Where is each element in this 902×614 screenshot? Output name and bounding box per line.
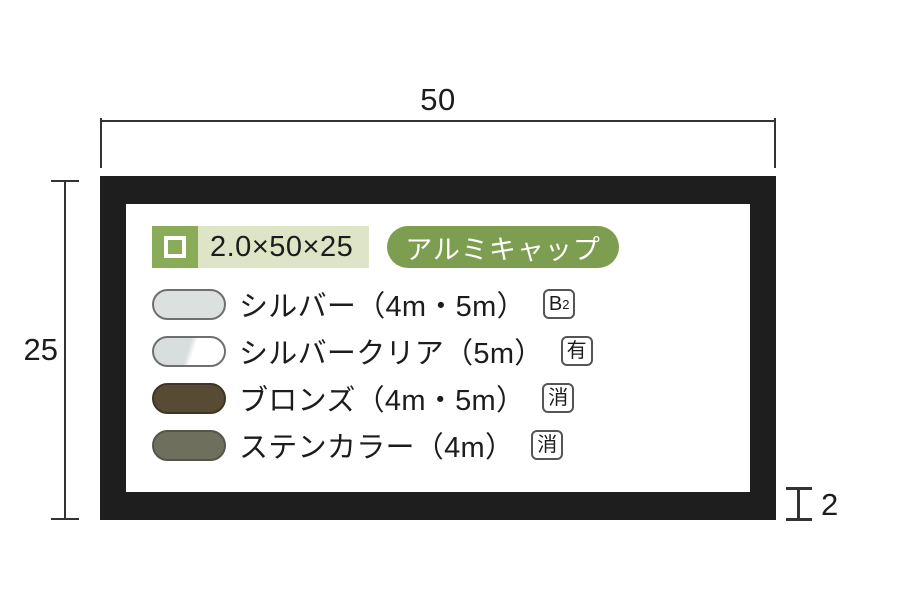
square-glyph bbox=[164, 236, 186, 258]
dimension-tick-left bbox=[100, 118, 102, 168]
ibeam-cap-bottom bbox=[786, 518, 812, 521]
list-item: シルバークリア（5m） 有 bbox=[152, 329, 724, 373]
spec-text: 2.0×50×25 bbox=[198, 226, 369, 268]
dimension-line bbox=[100, 120, 776, 122]
dimension-tick-bottom bbox=[51, 518, 79, 520]
list-item: ステンカラー（4m） 消 bbox=[152, 423, 724, 467]
color-swatch bbox=[152, 289, 226, 320]
color-name: シルバー（4m・5m） bbox=[239, 283, 526, 325]
product-frame-inner: 2.0×50×25 アルミキャップ シルバー（4m・5m） B2 シルバークリア… bbox=[126, 204, 750, 492]
color-swatch bbox=[152, 336, 226, 367]
dimension-height-line bbox=[64, 180, 66, 520]
dimension-line bbox=[64, 180, 66, 520]
diagram-canvas: 50 25 2 2.0×50×25 bbox=[0, 0, 902, 614]
dimension-tick-right bbox=[774, 118, 776, 168]
color-name: ブロンズ（4m・5m） bbox=[239, 377, 525, 419]
ibeam-stem bbox=[797, 487, 800, 521]
dimension-width-line bbox=[100, 120, 776, 122]
status-badge: 消 bbox=[531, 430, 563, 460]
list-item: ブロンズ（4m・5m） 消 bbox=[152, 376, 724, 420]
status-badge: 有 bbox=[561, 336, 593, 366]
list-item: シルバー（4m・5m） B2 bbox=[152, 282, 724, 326]
thickness-marker: 2 bbox=[786, 487, 838, 521]
dimension-tick-top bbox=[51, 180, 79, 182]
color-name: ステンカラー（4m） bbox=[239, 424, 514, 466]
badge-subscript: 2 bbox=[562, 298, 569, 311]
color-name: シルバークリア（5m） bbox=[239, 330, 544, 372]
color-swatch bbox=[152, 430, 226, 461]
product-frame: 2.0×50×25 アルミキャップ シルバー（4m・5m） B2 シルバークリア… bbox=[100, 176, 776, 520]
status-badge: B2 bbox=[543, 289, 576, 319]
color-swatch bbox=[152, 383, 226, 414]
color-list: シルバー（4m・5m） B2 シルバークリア（5m） 有 ブロンズ（4m・5m）… bbox=[152, 282, 724, 467]
status-badge: 消 bbox=[542, 383, 574, 413]
square-profile-icon bbox=[152, 226, 198, 268]
thickness-label: 2 bbox=[821, 489, 838, 520]
spec-chip: 2.0×50×25 bbox=[152, 226, 369, 268]
category-pill: アルミキャップ bbox=[387, 226, 619, 268]
ibeam-icon bbox=[786, 487, 812, 521]
dimension-width-label: 50 bbox=[100, 82, 776, 118]
dimension-height-label: 25 bbox=[0, 332, 58, 368]
product-header: 2.0×50×25 アルミキャップ bbox=[152, 226, 724, 268]
badge-text: B bbox=[549, 294, 562, 314]
